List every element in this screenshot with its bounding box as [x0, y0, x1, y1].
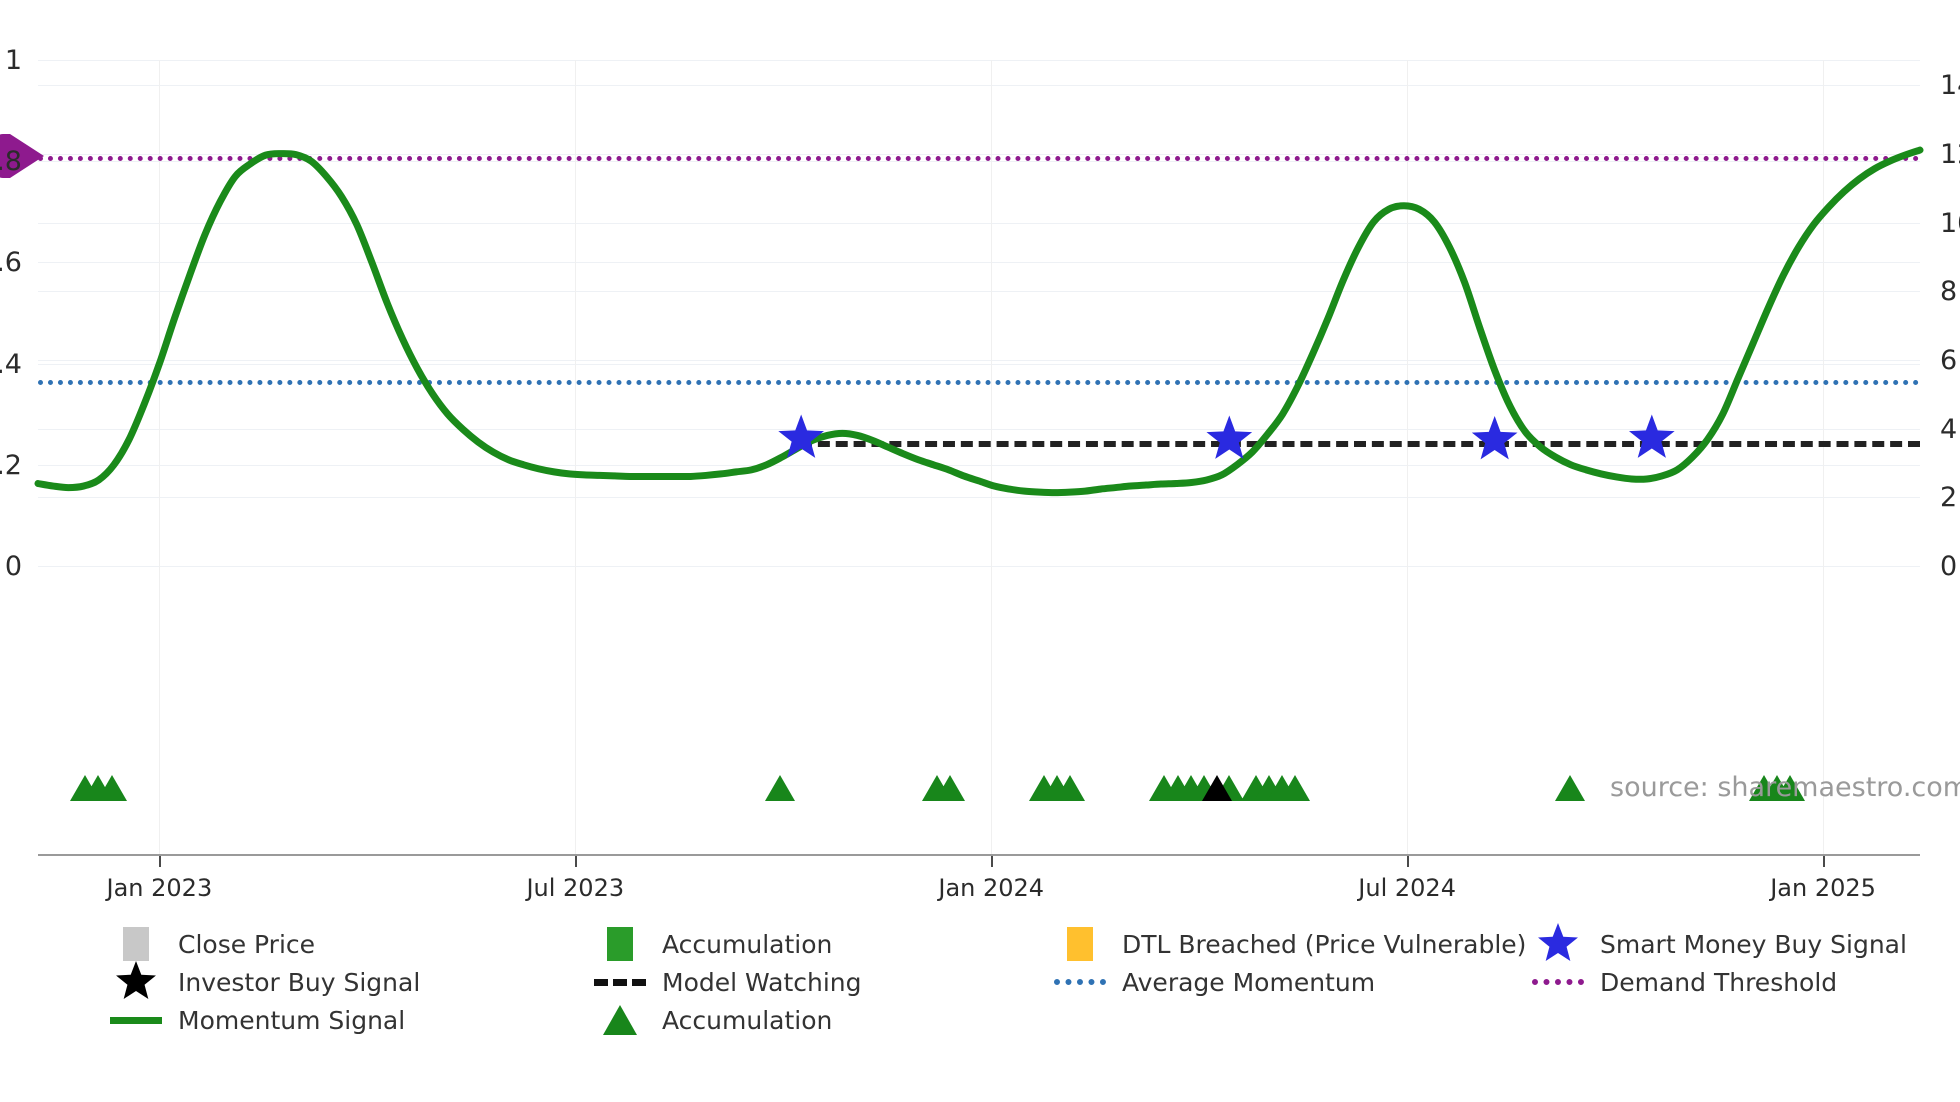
accumulation-triangle-marker [1055, 775, 1085, 801]
x-axis-line [38, 854, 1920, 856]
dot-swatch [1054, 979, 1106, 985]
legend-label: Smart Money Buy Signal [1600, 932, 1907, 957]
color-swatch [607, 927, 633, 961]
star-icon [114, 960, 158, 1004]
y-axis-right-tick-label: 4 [1940, 416, 1957, 443]
accumulation-triangle-marker [97, 775, 127, 801]
chart-root: 00.20.40.60.8102468101214Jan 2023Jul 202… [0, 0, 1960, 1102]
x-axis-tick [159, 856, 161, 867]
legend-swatch-triangle-icon [592, 1001, 648, 1039]
smart-money-star-icon [1472, 416, 1518, 459]
legend-smart-money[interactable]: Smart Money Buy Signal [1530, 925, 1907, 963]
dot-swatch [1532, 979, 1584, 985]
accumulation-triangle-marker [935, 775, 965, 801]
legend-label: Demand Threshold [1600, 970, 1837, 995]
legend-average-momentum[interactable]: Average Momentum [1052, 963, 1375, 1001]
y-axis-left-tick-label: 0.8 [0, 148, 22, 175]
smart-money-star-icon [1629, 414, 1675, 457]
legend-swatch-line-icon [108, 1001, 164, 1039]
y-axis-right-tick-label: 14 [1940, 72, 1960, 99]
legend-demand-threshold[interactable]: Demand Threshold [1530, 963, 1837, 1001]
legend-accumulation-triangle[interactable]: Accumulation [592, 1001, 832, 1039]
legend-swatch-star-icon [1530, 925, 1586, 963]
x-axis-tick-label: Jan 2025 [1713, 876, 1933, 900]
y-axis-left-tick-label: 0.4 [0, 351, 22, 378]
accumulation-triangle-marker [1280, 775, 1310, 801]
legend-swatch-square-icon [1052, 925, 1108, 963]
x-axis-tick-label: Jul 2024 [1297, 876, 1517, 900]
legend-label: Accumulation [662, 932, 832, 957]
y-axis-right-tick-label: 0 [1940, 553, 1957, 580]
legend-close-price[interactable]: Close Price [108, 925, 315, 963]
y-axis-left-tick-label: 1 [0, 47, 22, 74]
x-axis-tick-label: Jan 2024 [881, 876, 1101, 900]
y-axis-right-tick-label: 6 [1940, 347, 1957, 374]
line-swatch [110, 1017, 162, 1024]
legend-swatch-dashed-line-icon [592, 963, 648, 1001]
legend-row-3: Momentum SignalAccumulation [0, 1001, 1960, 1039]
accumulation-triangle-marker [1555, 775, 1585, 801]
color-swatch [123, 927, 149, 961]
legend-label: Accumulation [662, 1008, 832, 1033]
dash-swatch [594, 979, 646, 986]
source-attribution: source: sharemaestro.com [1610, 774, 1960, 801]
investor-buy-triangle-marker [1202, 775, 1232, 801]
x-axis-tick-label: Jan 2023 [49, 876, 269, 900]
legend-label: Model Watching [662, 970, 862, 995]
y-axis-left-tick-label: 0.2 [0, 452, 22, 479]
x-axis-tick [1407, 856, 1409, 867]
legend-row-1: Close PriceAccumulationDTL Breached (Pri… [0, 925, 1960, 963]
legend-label: Momentum Signal [178, 1008, 405, 1033]
y-axis-right-tick-label: 2 [1940, 484, 1957, 511]
legend-accumulation-bar[interactable]: Accumulation [592, 925, 832, 963]
legend-label: Close Price [178, 932, 315, 957]
y-axis-left-tick-label: 0.6 [0, 249, 22, 276]
x-axis-tick [991, 856, 993, 867]
legend-investor-buy[interactable]: Investor Buy Signal [108, 963, 420, 1001]
legend-label: Investor Buy Signal [178, 970, 420, 995]
star-icon [1536, 922, 1580, 966]
legend-label: Average Momentum [1122, 970, 1375, 995]
legend-swatch-dotted-line-icon [1052, 963, 1108, 1001]
smart-money-star-icon [778, 414, 824, 457]
y-axis-right-tick-label: 8 [1940, 278, 1957, 305]
y-axis-right-tick-label: 10 [1940, 210, 1960, 237]
legend-swatch-dotted-line-icon [1530, 963, 1586, 1001]
legend-label: DTL Breached (Price Vulnerable) [1122, 932, 1526, 957]
accumulation-triangle-marker [765, 775, 795, 801]
y-axis-left-tick-label: 0 [0, 553, 22, 580]
legend-row-2: Investor Buy SignalModel WatchingAverage… [0, 963, 1960, 1001]
y-axis-right-tick-label: 12 [1940, 141, 1960, 168]
x-axis-tick [1823, 856, 1825, 867]
triangle-icon [603, 1005, 637, 1035]
legend-model-watching[interactable]: Model Watching [592, 963, 862, 1001]
legend-dtl-breached[interactable]: DTL Breached (Price Vulnerable) [1052, 925, 1526, 963]
chart-legend: Close PriceAccumulationDTL Breached (Pri… [0, 925, 1960, 1039]
smart-money-star-icon [1206, 416, 1252, 459]
legend-swatch-star-icon [108, 963, 164, 1001]
legend-swatch-square-icon [592, 925, 648, 963]
legend-swatch-square-icon [108, 925, 164, 963]
x-axis-tick [575, 856, 577, 867]
color-swatch [1067, 927, 1093, 961]
x-axis-tick-label: Jul 2023 [465, 876, 685, 900]
legend-momentum-signal[interactable]: Momentum Signal [108, 1001, 405, 1039]
